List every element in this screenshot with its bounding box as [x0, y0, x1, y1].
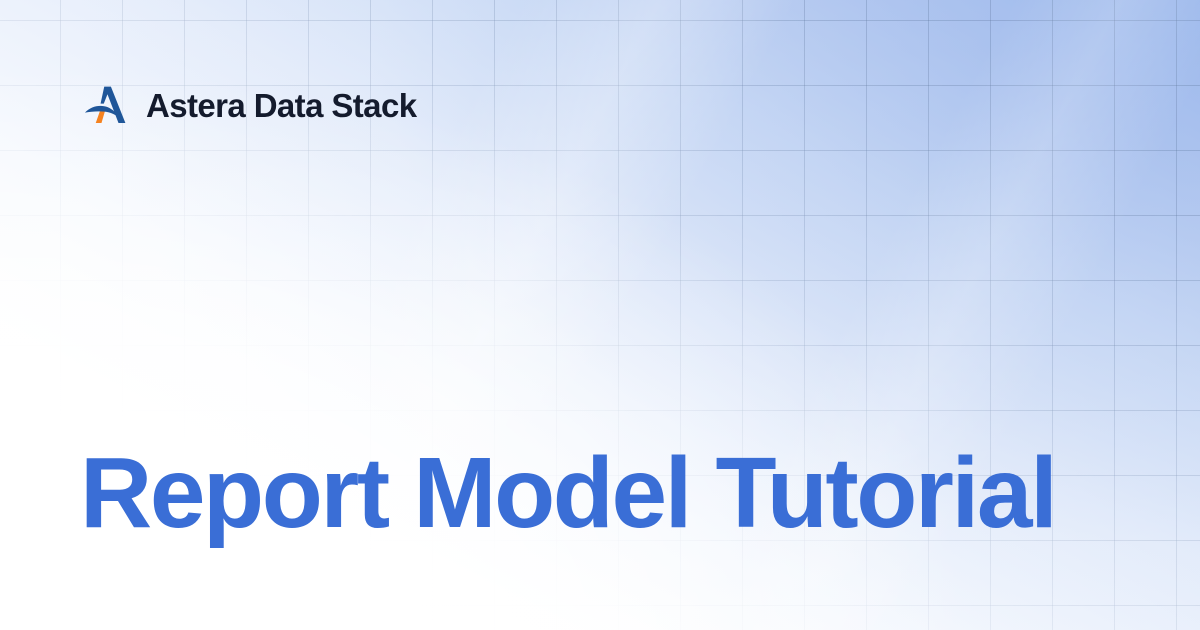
page-title: Report Model Tutorial — [80, 440, 1120, 546]
astera-a-logo-icon — [84, 82, 130, 128]
og-card: Astera Data Stack Report Model Tutorial — [0, 0, 1200, 630]
card-content: Astera Data Stack Report Model Tutorial — [0, 0, 1200, 630]
brand-name: Astera Data Stack — [146, 89, 416, 122]
brand-lockup: Astera Data Stack — [84, 82, 416, 128]
